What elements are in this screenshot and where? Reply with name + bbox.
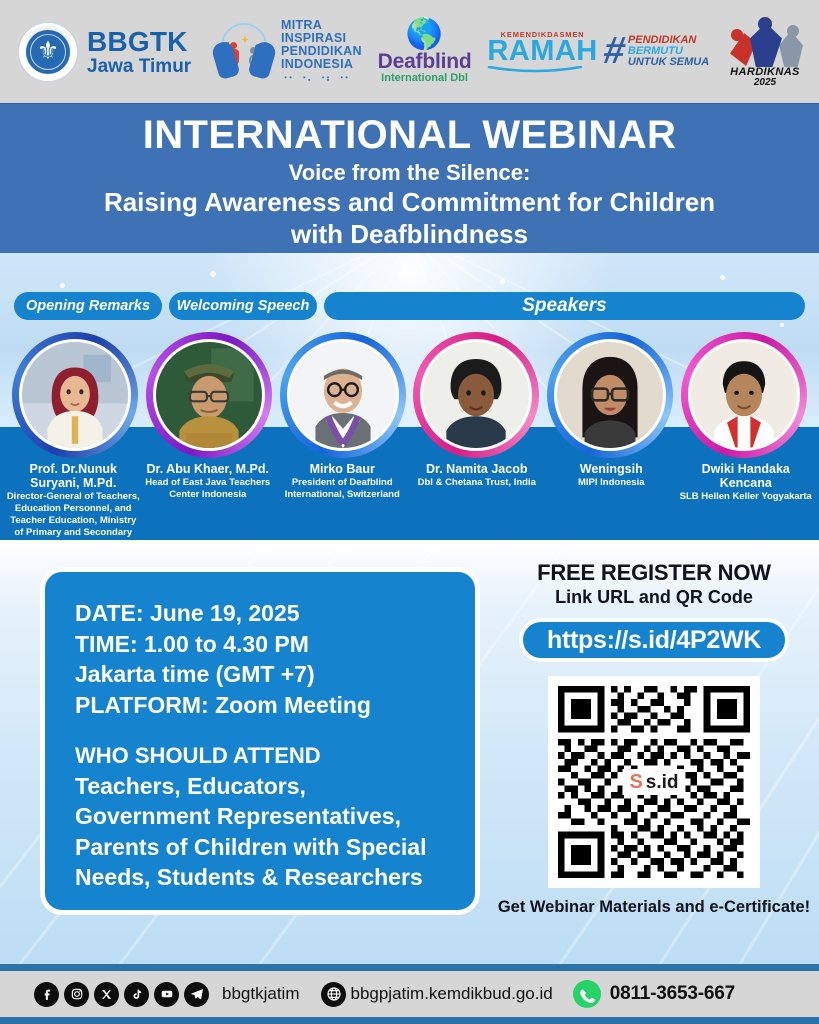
- globe-icon: [321, 982, 346, 1007]
- speaker-role: Dbl & Chetana Trust, India: [410, 477, 545, 489]
- speaker-portrait-4: [413, 332, 539, 464]
- avatar: [557, 342, 663, 448]
- qr-center-logo: S s.id: [622, 769, 685, 795]
- hashtag-icon: #: [601, 36, 627, 66]
- speaker-portrait-5: [547, 332, 673, 464]
- pill-opening-remarks: Opening Remarks: [14, 292, 162, 320]
- braille-dots: ⠐⠂ ⠐⠄ ⠐⠆ ⠐⠂: [281, 74, 362, 83]
- title-subtitle-3: with Deafblindness: [0, 219, 819, 250]
- section-pills: Opening Remarks Welcoming Speech Speaker…: [0, 292, 819, 320]
- speaker-name: Mirko Baur: [275, 462, 410, 476]
- register-heading: FREE REGISTER NOW: [495, 560, 813, 586]
- event-details-card: DATE: June 19, 2025 TIME: 1.00 to 4.30 P…: [40, 567, 480, 915]
- event-timezone: Jakarta time (GMT +7): [75, 659, 475, 690]
- qr-logo-text: s.id: [646, 773, 679, 792]
- s-id-mark-icon: S: [629, 772, 642, 792]
- mitra-line-4: INDONESIA: [281, 58, 362, 71]
- bbgtk-title: BBGTK: [87, 28, 191, 56]
- logo-mitra-inspirasi: MITRA INSPIRASI PENDIDIKAN INDONESIA ⠐⠂ …: [213, 19, 362, 83]
- speaker-name: Dr. Namita Jacob: [410, 462, 545, 476]
- deafblind-subtitle: International Dbl: [378, 73, 472, 84]
- pill-welcoming-speech: Welcoming Speech: [169, 292, 317, 320]
- event-date: DATE: June 19, 2025: [75, 598, 475, 629]
- instagram-icon[interactable]: [64, 982, 89, 1007]
- who-should-attend-heading: WHO SHOULD ATTEND: [75, 742, 475, 771]
- registration-url-button[interactable]: https://s.id/4P2WK: [519, 618, 789, 662]
- avatar: [22, 342, 128, 448]
- attend-line-3: Parents of Children with Special: [75, 832, 475, 862]
- title-subtitle-1: Voice from the Silence:: [0, 160, 819, 186]
- speaker-role: SLB Hellen Keller Yogyakarta: [679, 491, 814, 503]
- tiktok-icon[interactable]: [124, 982, 149, 1007]
- facebook-icon[interactable]: [34, 982, 59, 1007]
- speaker-name: Weningsih: [544, 462, 679, 476]
- speaker-info-6: Dwiki Handaka Kencana SLB Hellen Keller …: [679, 462, 814, 540]
- webinar-poster: ⚜ BBGTK Jawa Timur MITRA INSPIRASI: [0, 0, 819, 1024]
- title-subtitle-2: Raising Awareness and Commitment for Chi…: [0, 187, 819, 218]
- youtube-icon[interactable]: [154, 982, 179, 1007]
- bbgtk-subtitle: Jawa Timur: [87, 57, 191, 76]
- website-url: bbgpjatim.kemdikbud.go.id: [350, 984, 552, 1004]
- speaker-name: Dr. Abu Khaer, M.Pd.: [141, 462, 276, 476]
- speaker-info-5: Weningsih MIPI Indonesia: [544, 462, 679, 540]
- speaker-info-2: Dr. Abu Khaer, M.Pd. Head of East Java T…: [141, 462, 276, 540]
- qr-code[interactable]: S s.id: [548, 676, 760, 888]
- telegram-icon[interactable]: [184, 982, 209, 1007]
- avatar: [156, 342, 262, 448]
- attend-line-4: Needs, Students & Researchers: [75, 862, 475, 892]
- pill-speakers: Speakers: [324, 292, 805, 320]
- logo-ramah: KEMENDIKDASMEN RAMAH # PENDIDIKAN BERMUT…: [487, 31, 709, 72]
- register-subheading: Link URL and QR Code: [495, 587, 813, 608]
- globe-in-hands-icon: 🌎: [378, 20, 472, 50]
- logo-deafblind-international: 🌎 Deafblind International Dbl: [378, 20, 472, 84]
- whatsapp-icon: [573, 980, 601, 1008]
- logo-hardiknas-2025: HARDIKNAS 2025: [725, 15, 805, 88]
- speaker-role: MIPI Indonesia: [544, 477, 679, 489]
- registration-column: FREE REGISTER NOW Link URL and QR Code h…: [495, 560, 813, 917]
- tut-wuri-handayani-seal-icon: ⚜: [18, 22, 78, 82]
- speaker-portrait-1: [12, 332, 138, 464]
- get-materials-note: Get Webinar Materials and e-Certificate!: [495, 898, 813, 917]
- speaker-info-3: Mirko Baur President of Deafblind Intern…: [275, 462, 410, 540]
- logo-pendidikan-bermutu: # PENDIDIKAN BERMUTU UNTUK SEMUA: [604, 35, 709, 69]
- page-title: INTERNATIONAL WEBINAR: [0, 104, 819, 156]
- speaker-portraits: [0, 332, 819, 464]
- hands-with-children-icon: [213, 22, 275, 80]
- avatar: [423, 342, 529, 448]
- footer-top-rule: [0, 964, 819, 971]
- speaker-role: President of Deafblind International, Sw…: [275, 477, 410, 501]
- details-section: DATE: June 19, 2025 TIME: 1.00 to 4.30 P…: [0, 540, 819, 964]
- attend-line-1: Teachers, Educators,: [75, 771, 475, 801]
- speaker-portrait-6: [681, 332, 807, 464]
- phone-number: 0811-3653-667: [610, 983, 735, 1005]
- speaker-role: Head of East Java Teachers Center Indone…: [141, 477, 276, 501]
- avatar: [290, 342, 396, 448]
- bermutu-line-3: UNTUK SEMUA: [628, 57, 709, 68]
- social-handle: bbgtkjatim: [222, 984, 299, 1004]
- title-band: INTERNATIONAL WEBINAR Voice from the Sil…: [0, 103, 819, 253]
- avatar: [691, 342, 797, 448]
- social-icons: [34, 982, 209, 1007]
- footer-bar: bbgtkjatim bbgpjatim.kemdikbud.go.id 081…: [0, 971, 819, 1017]
- hardiknas-figures-icon: [725, 15, 805, 67]
- attend-line-2: Government Representatives,: [75, 801, 475, 831]
- speaker-portrait-3: [280, 332, 406, 464]
- hardiknas-year: 2025: [725, 78, 805, 88]
- event-platform: PLATFORM: Zoom Meeting: [75, 690, 475, 721]
- event-time: TIME: 1.00 to 4.30 PM: [75, 629, 475, 660]
- ramah-wordmark: RAMAH: [487, 38, 597, 66]
- speaker-names: Prof. Dr.Nunuk Suryani, M.Pd. Director-G…: [0, 462, 819, 540]
- speaker-info-1: Prof. Dr.Nunuk Suryani, M.Pd. Director-G…: [6, 462, 141, 540]
- deafblind-title: Deafblind: [378, 51, 472, 72]
- x-twitter-icon[interactable]: [94, 982, 119, 1007]
- speaker-name: Prof. Dr.Nunuk Suryani, M.Pd.: [6, 462, 141, 490]
- speaker-name: Dwiki Handaka Kencana: [679, 462, 814, 490]
- speaker-info-4: Dr. Namita Jacob Dbl & Chetana Trust, In…: [410, 462, 545, 540]
- logo-bar: ⚜ BBGTK Jawa Timur MITRA INSPIRASI: [0, 0, 819, 103]
- speaker-portrait-2: [146, 332, 272, 464]
- logo-bbgtk-jawa-timur: ⚜ BBGTK Jawa Timur: [18, 22, 191, 82]
- footer-bottom-rule: [0, 1017, 819, 1024]
